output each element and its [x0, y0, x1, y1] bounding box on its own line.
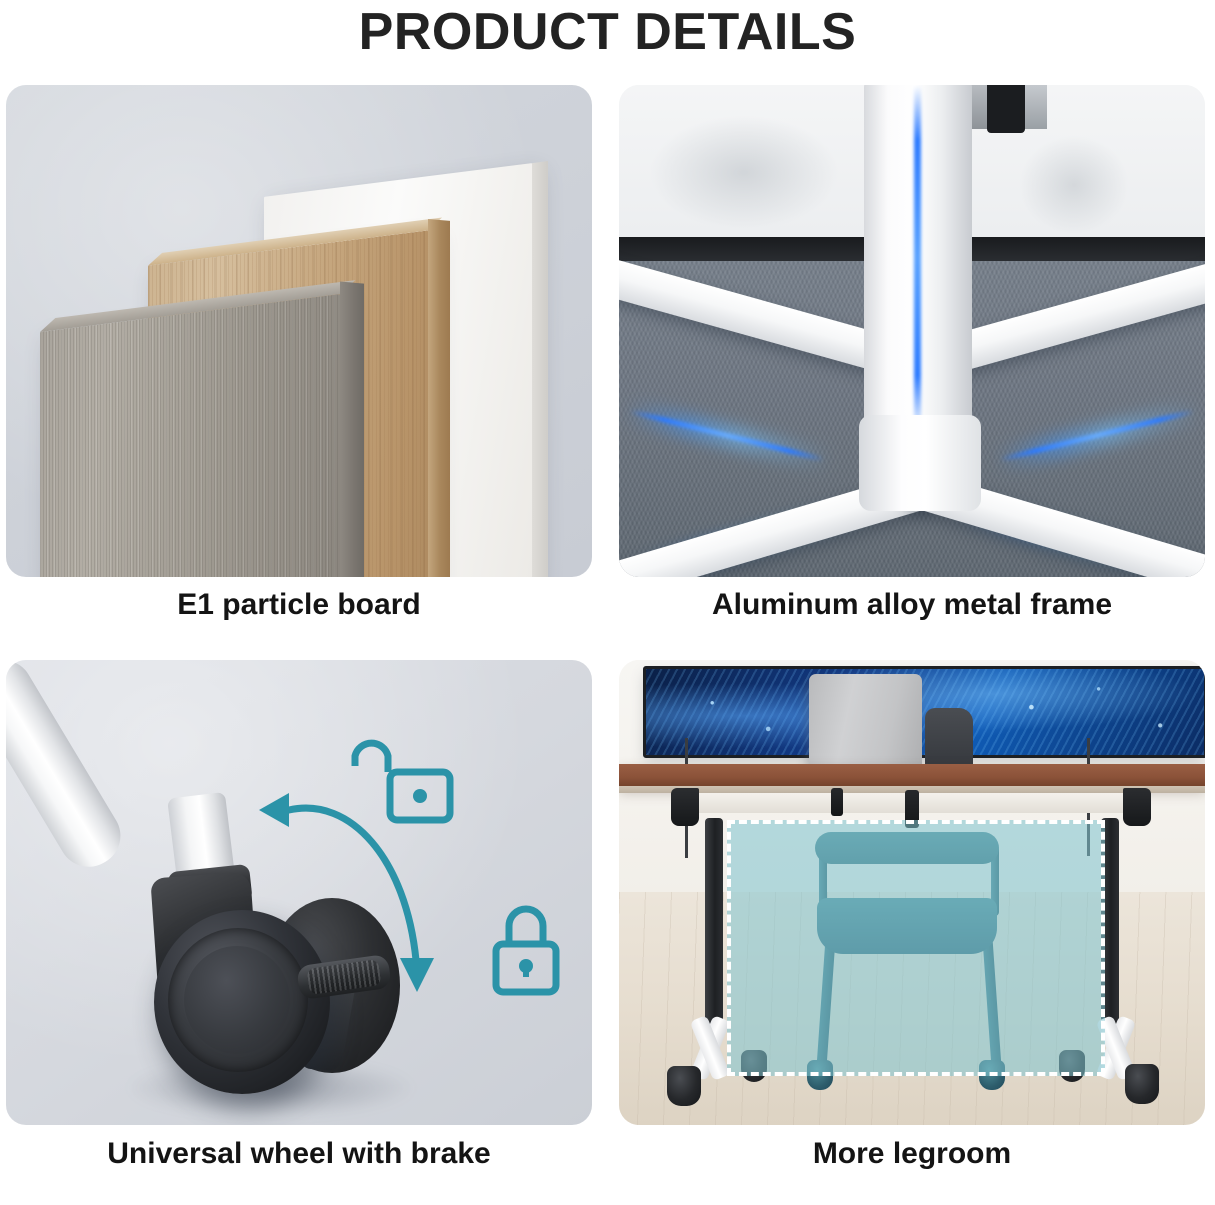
arrow-head-down: [400, 958, 434, 992]
desk-clip: [831, 788, 843, 816]
unlock-icon: [355, 743, 450, 820]
wall-shadow: [1019, 135, 1129, 235]
lock-keyhole-slot: [523, 966, 529, 977]
unlock-keyhole-dot: [413, 789, 427, 803]
table-mechanism-dark-part: [987, 85, 1025, 133]
wall-shadow: [649, 115, 839, 230]
page-title: PRODUCT DETAILS: [0, 2, 1215, 62]
laptop: [809, 674, 922, 770]
particle-board-photo: [6, 85, 592, 577]
feature-panel-more-legroom: More legroom: [619, 660, 1205, 1125]
board-edge: [532, 161, 548, 577]
board-edge: [340, 281, 364, 577]
desk-fold-bracket-left: [671, 788, 699, 826]
legroom-highlight-area: [727, 820, 1105, 1076]
desk-tabletop: [619, 764, 1205, 788]
feature-panel-universal-wheel: Universal wheel with brake: [6, 660, 592, 1125]
desk-caster: [1125, 1064, 1159, 1104]
curved-double-arrow-icon: [289, 808, 416, 960]
panel-caption-more-legroom: More legroom: [619, 1137, 1205, 1171]
desk-fold-bracket-right: [1123, 788, 1151, 826]
desk-leg-post-left: [705, 818, 723, 1026]
desk-caster: [667, 1066, 701, 1106]
frame-hub-joint: [859, 415, 981, 511]
lock-icon: [496, 909, 556, 992]
wall-display-bezel: [643, 666, 1205, 758]
panel-caption-metal-frame: Aluminum alloy metal frame: [619, 588, 1205, 622]
feature-panel-grid: E1 particle board: [0, 85, 1215, 1205]
arrow-head-up: [259, 793, 289, 827]
board-sample-grey: [40, 294, 340, 577]
more-legroom-photo: [619, 660, 1205, 1125]
column-glow-line: [914, 85, 921, 431]
panel-caption-universal-wheel: Universal wheel with brake: [6, 1137, 592, 1171]
panel-caption-particle-board: E1 particle board: [6, 588, 592, 622]
universal-wheel-photo: [6, 660, 592, 1125]
table-mechanism-part: [1025, 85, 1047, 129]
brake-state-icons: [6, 660, 592, 1125]
metal-frame-photo: [619, 85, 1205, 577]
board-edge: [428, 219, 450, 577]
feature-panel-particle-board: E1 particle board: [6, 85, 592, 577]
product-details-infographic: PRODUCT DETAILS E1 particle board: [0, 0, 1215, 1205]
feature-panel-metal-frame: Aluminum alloy metal frame: [619, 85, 1205, 577]
